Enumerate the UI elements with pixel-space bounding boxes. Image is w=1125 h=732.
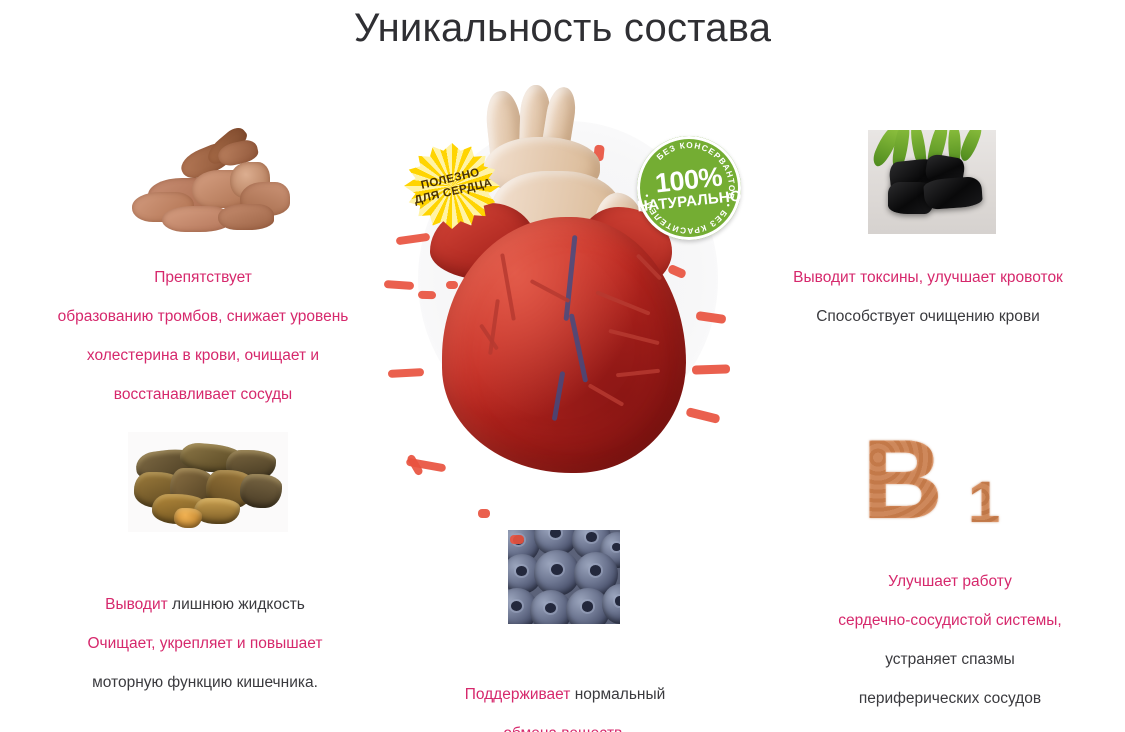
heart-ray	[685, 407, 720, 424]
heart-ray	[446, 281, 458, 289]
blueberry-line-2: обмена веществ,	[400, 724, 730, 732]
blueberry-line-1-pink: Поддерживает	[465, 686, 571, 703]
vitamin-subscript-1: 1	[968, 474, 999, 532]
bark-line-3: холестерина в крови, очищает и	[28, 346, 378, 366]
heart-ray	[510, 535, 524, 544]
starburst-label: ПОЛЕЗНО ДЛЯ СЕРДЦА	[396, 133, 509, 238]
vitamin-description: Улучшает работу сердечно-сосудистой сист…	[790, 552, 1110, 728]
vitamin-line-2: сердечно-сосудистой системы,	[790, 611, 1110, 631]
vitamin-line-1: Улучшает работу	[790, 572, 1110, 592]
heart-ray	[692, 364, 730, 374]
bark-line-2: образованию тромбов, снижает уровень	[28, 307, 378, 327]
page-title: Уникальность состава	[0, 6, 1125, 51]
vitamin-line-4: периферических сосудов	[790, 689, 1110, 709]
blueberry-description: Поддерживает нормальный обмена веществ, …	[400, 646, 730, 732]
resin-line-1-dark: лишнюю жидкость	[168, 596, 305, 613]
bark-line-4: восстанавливает сосуды	[28, 385, 378, 405]
charcoal-line-1: Выводит токсины, улучшает кровоток	[758, 268, 1098, 288]
heart-ray	[384, 280, 414, 290]
infographic-page: Уникальность состава Препятствует образо…	[0, 0, 1125, 732]
vitamin-b1-letter-image: B 1	[862, 428, 1022, 536]
resin-line-2: Очищает, укрепляет и повышает	[40, 634, 370, 654]
red-bark-chips-photo	[122, 126, 300, 238]
natural-word: НАТУРАЛЬНО	[636, 188, 742, 215]
blueberry-line-1-dark: нормальный	[570, 686, 665, 703]
resin-description: Выводит лишнюю жидкость Очищает, укрепля…	[40, 556, 370, 712]
heart-ray	[388, 368, 424, 378]
natural-badge-core: 100% НАТУРАЛЬНО	[637, 136, 741, 240]
charcoal-line-2: Способствует очищению крови	[758, 307, 1098, 327]
heart-ray	[478, 509, 490, 518]
vitamin-line-3: устраняет спазмы	[790, 650, 1110, 670]
resin-line-1: Выводит лишнюю жидкость	[40, 576, 370, 615]
resin-line-1-pink: Выводит	[105, 596, 168, 613]
100-percent-natural-badge: БЕЗ КОНСЕРВАНТОВ • БЕЗ КРАСИТЕЛЕЙ • БЕЗ …	[637, 136, 741, 240]
bark-line-1: Препятствует	[28, 268, 378, 288]
useful-for-heart-badge: ПОЛЕЗНО ДЛЯ СЕРДЦА	[404, 143, 500, 229]
amber-resin-chunks-photo	[128, 432, 288, 532]
bark-description: Препятствует образованию тромбов, снижае…	[28, 248, 378, 424]
resin-line-3: моторную функцию кишечника.	[40, 673, 370, 693]
black-charcoal-photo	[868, 130, 996, 234]
blueberries-photo	[508, 530, 620, 624]
charcoal-description: Выводит токсины, улучшает кровоток Спосо…	[758, 248, 1098, 346]
vitamin-letter-b: B	[862, 424, 942, 536]
heart-ray	[418, 291, 436, 300]
blueberry-line-1: Поддерживает нормальный	[400, 666, 730, 705]
